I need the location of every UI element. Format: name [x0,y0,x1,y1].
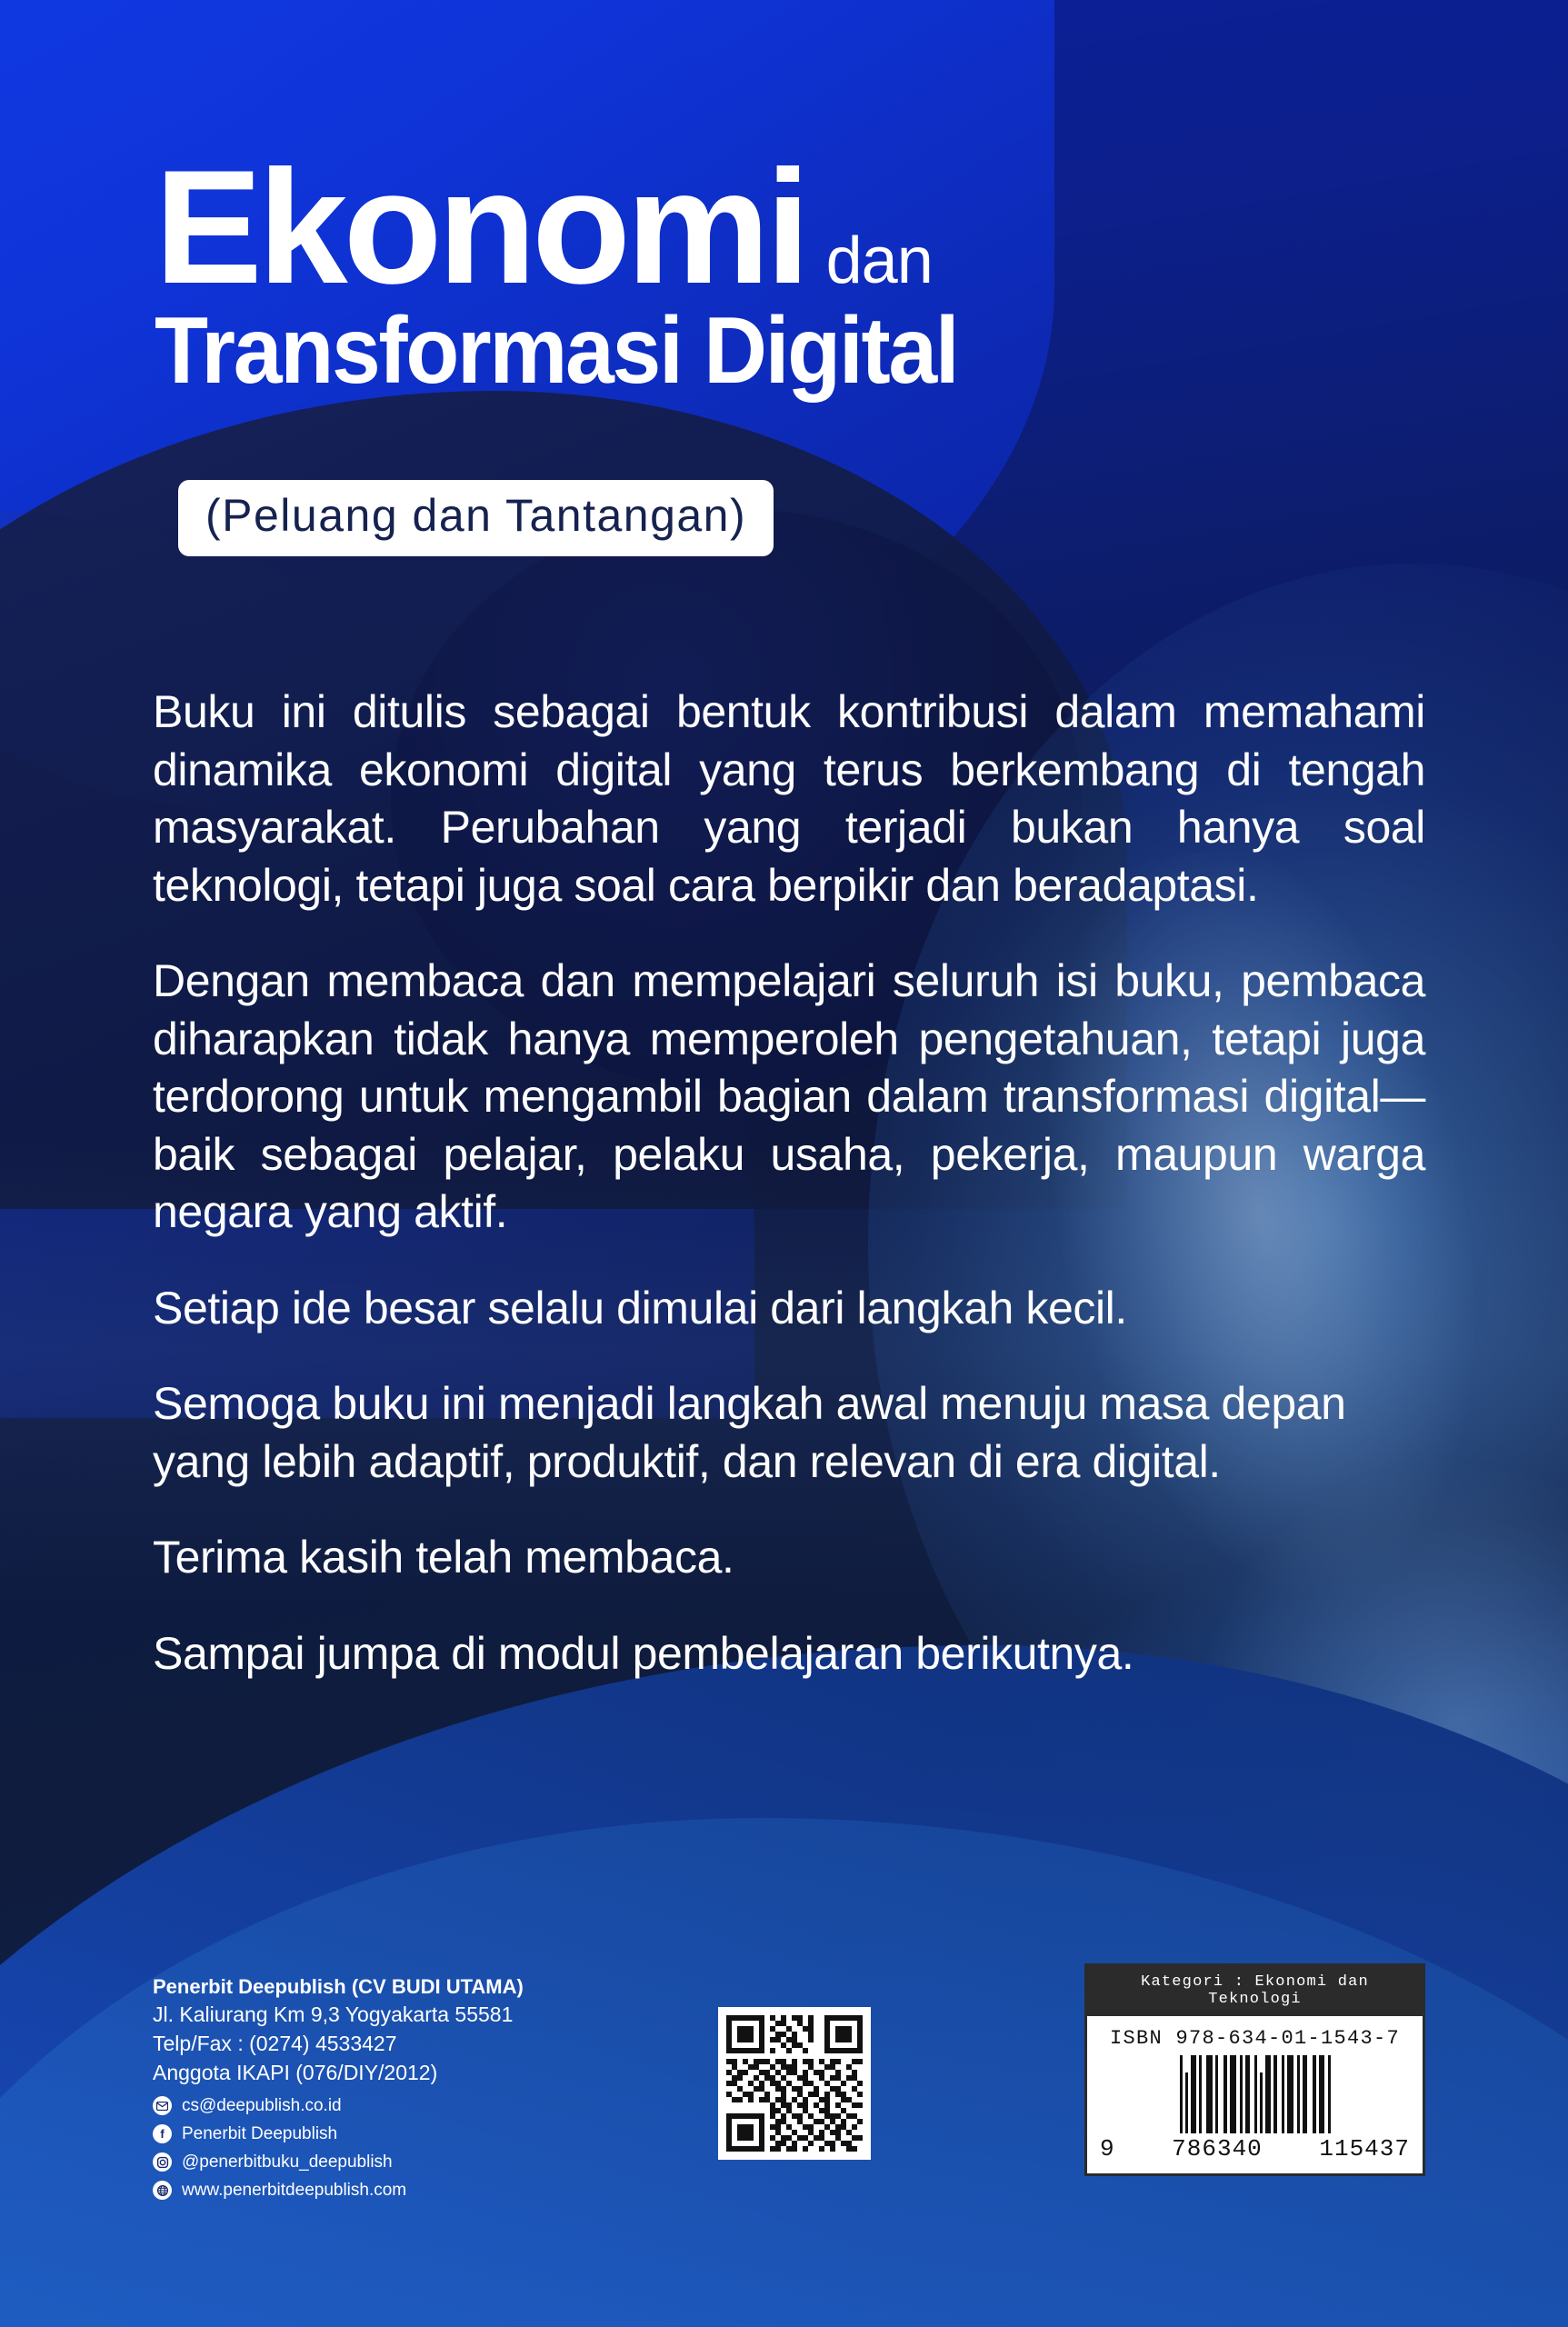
website-icon [153,2181,172,2200]
blurb-text: Buku ini ditulis sebagai bentuk kontribu… [153,684,1425,1683]
contact-facebook[interactable]: f Penerbit Deepublish [153,2124,662,2143]
page-subtitle: Transformasi Digital [155,304,1355,398]
tagline-wrapper: (Peluang dan Tantangan) [178,480,774,556]
qr-code[interactable] [718,2007,871,2160]
publisher-address: Jl. Kaliurang Km 9,3 Yogyakarta 55581 [153,2001,662,2030]
isbn-digit-right: 115437 [1319,2135,1410,2162]
barcode-image [1087,2055,1423,2133]
publisher-info: Penerbit Deepublish (CV BUDI UTAMA) Jl. … [153,1972,662,2209]
isbn-category: Kategori : Ekonomi dan Teknologi [1087,1966,1423,2016]
page-title: Ekonomi [155,153,806,302]
contact-facebook-text: Penerbit Deepublish [182,2125,337,2142]
blurb-paragraph: Semoga buku ini menjadi langkah awal men… [153,1375,1425,1491]
qr-code-image [726,2015,863,2152]
isbn-code: ISBN 978-634-01-1543-7 [1087,2016,1423,2055]
contact-website[interactable]: www.penerbitdeepublish.com [153,2181,662,2200]
isbn-digit-left: 9 [1100,2135,1115,2162]
contact-instagram[interactable]: @penerbitbuku_deepublish [153,2152,662,2172]
instagram-icon [153,2152,172,2172]
publisher-phone: Telp/Fax : (0274) 4533427 [153,2030,662,2059]
publisher-membership: Anggota IKAPI (076/DIY/2012) [153,2059,662,2088]
contact-instagram-text: @penerbitbuku_deepublish [182,2153,393,2171]
contact-email[interactable]: cs@deepublish.co.id [153,2096,662,2115]
publisher-name: Penerbit Deepublish (CV BUDI UTAMA) [153,1972,662,2001]
contact-email-text: cs@deepublish.co.id [182,2097,342,2114]
email-icon [153,2096,172,2115]
blurb-paragraph: Buku ini ditulis sebagai bentuk kontribu… [153,684,1425,914]
publisher-contacts: cs@deepublish.co.id f Penerbit Deepublis… [153,2096,662,2200]
blurb-paragraph: Setiap ide besar selalu dimulai dari lan… [153,1280,1425,1338]
isbn-digits: 9 786340 115437 [1087,2133,1423,2173]
blurb-paragraph: Dengan membaca dan mempelajari seluruh i… [153,953,1425,1242]
blurb-paragraph: Sampai jumpa di modul pembelajaran berik… [153,1625,1425,1683]
blurb-paragraph: Terima kasih telah membaca. [153,1529,1425,1587]
book-back-cover: Ekonomidan Transformasi Digital (Peluang… [0,0,1568,2327]
facebook-icon: f [153,2124,172,2143]
isbn-digit-mid: 786340 [1172,2135,1263,2162]
tagline-badge: (Peluang dan Tantangan) [178,480,774,556]
title-conjunction: dan [806,224,933,298]
contact-website-text: www.penerbitdeepublish.com [182,2182,406,2199]
title-block: Ekonomidan Transformasi Digital [155,153,1445,398]
isbn-block: Kategori : Ekonomi dan Teknologi ISBN 97… [1084,1963,1425,2176]
